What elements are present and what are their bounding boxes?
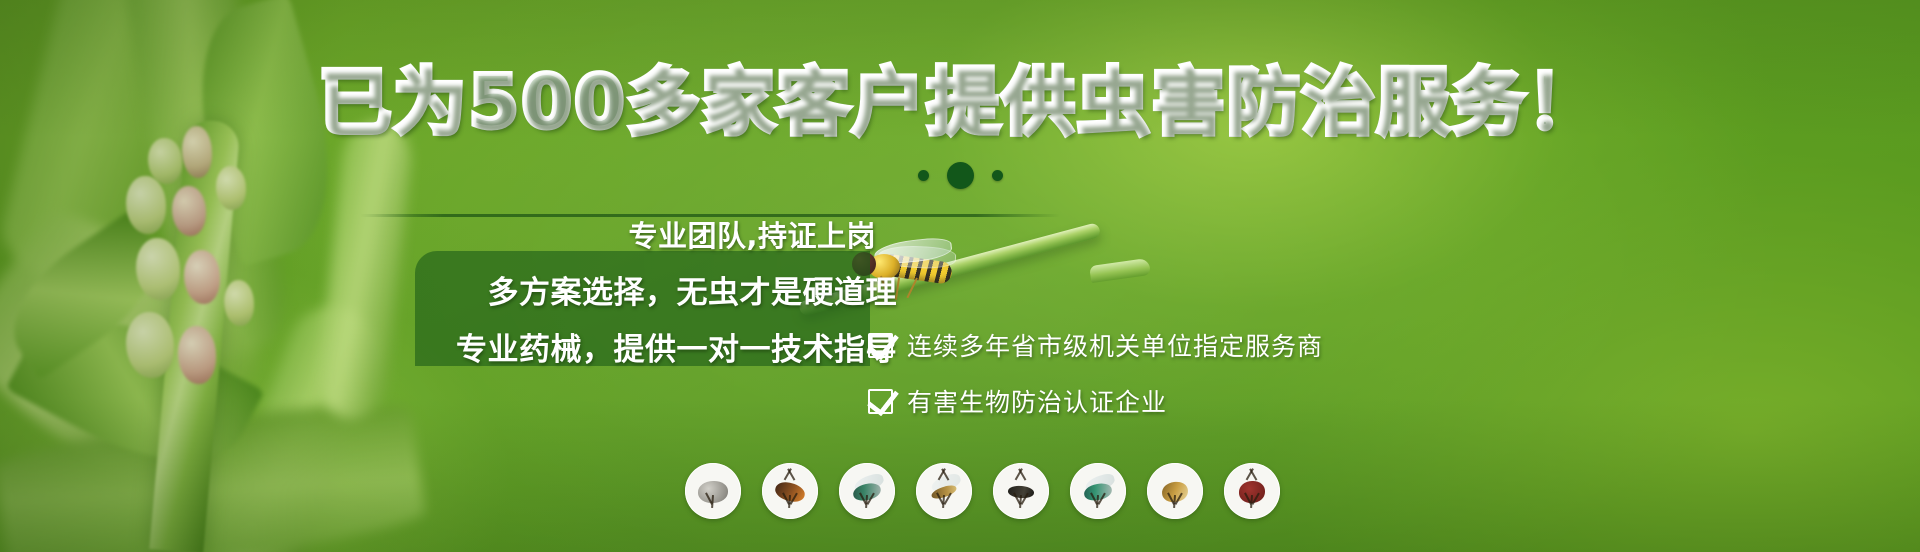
decorative-dot-small-right bbox=[992, 170, 1003, 181]
bedbug-icon[interactable] bbox=[1224, 463, 1280, 519]
decorative-dot-large bbox=[947, 162, 974, 189]
banner-headline-text: 已为500多家客户提供虫害防治服务！ bbox=[318, 62, 1601, 144]
feature-line-3: 专业药械，提供一对一技术指导 bbox=[456, 324, 898, 369]
feature-text-group: 专业团队,持证上岗 多方案选择，无虫才是硬道理 专业药械，提供一对一技术指导 bbox=[338, 213, 898, 369]
decorative-dot-small-left bbox=[918, 170, 929, 181]
checkbox-checked-icon bbox=[868, 333, 893, 358]
mosquito-icon[interactable] bbox=[916, 463, 972, 519]
pest-icon-row bbox=[685, 463, 1280, 519]
cockroach-icon[interactable] bbox=[762, 463, 818, 519]
credential-item: 有害生物防治认证企业 bbox=[868, 383, 1323, 419]
credential-item-label: 有害生物防治认证企业 bbox=[907, 383, 1167, 419]
blowfly-icon[interactable] bbox=[1070, 463, 1126, 519]
feature-line-2: 多方案选择，无虫才是硬道理 bbox=[488, 267, 899, 312]
credential-item: 连续多年省市级机关单位指定服务商 bbox=[868, 327, 1323, 363]
credential-list: 连续多年省市级机关单位指定服务商 有害生物防治认证企业 bbox=[868, 327, 1323, 419]
housefly-icon[interactable] bbox=[839, 463, 895, 519]
ant-icon[interactable] bbox=[993, 463, 1049, 519]
flea-icon[interactable] bbox=[1147, 463, 1203, 519]
decorative-dot-group bbox=[0, 162, 1920, 189]
credential-item-label: 连续多年省市级机关单位指定服务商 bbox=[907, 327, 1323, 363]
banner-headline: 已为500多家客户提供虫害防治服务！ bbox=[0, 62, 1920, 144]
feature-line-1: 专业团队,持证上岗 bbox=[628, 213, 898, 255]
checkbox-checked-icon bbox=[868, 389, 893, 414]
rodent-icon[interactable] bbox=[685, 463, 741, 519]
pest-control-hero-banner: 已为500多家客户提供虫害防治服务！ 专业团队,持证上岗 多方案选择，无虫才是硬… bbox=[0, 0, 1920, 552]
